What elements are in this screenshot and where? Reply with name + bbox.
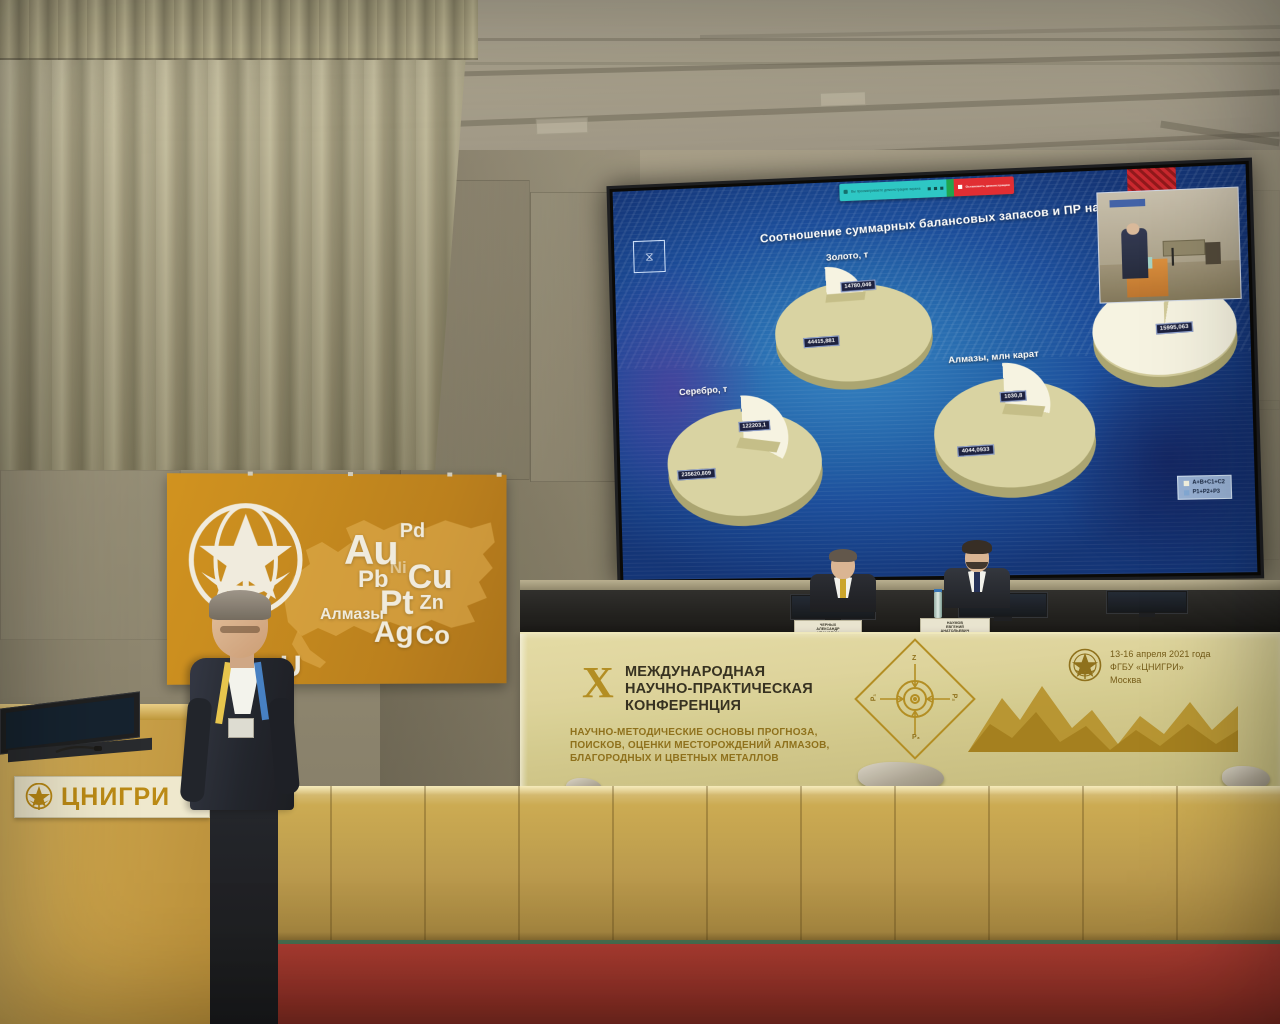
banner-clip <box>248 472 253 476</box>
conference-hall-photo: Вы просматриваете демонстрацию экрана Ос… <box>0 0 1280 1024</box>
bottle-cap <box>934 589 942 592</box>
banner-title-line: КОНФЕРЕНЦИЯ <box>625 698 813 715</box>
speaker-eye-shadow <box>220 626 260 633</box>
banner-subtitle: НАУЧНО-МЕТОДИЧЕСКИЕ ОСНОВЫ ПРОГНОЗА, ПОИ… <box>570 726 830 766</box>
pie-value-diamonds-ab: 1030,8 <box>1000 390 1027 402</box>
emblem-arrows <box>872 656 958 742</box>
label-diamonds: Алмазы <box>320 606 384 624</box>
speaker-hair <box>209 590 271 620</box>
pip-speaker-body <box>1121 228 1149 279</box>
person-beard <box>966 562 988 569</box>
pip-speaker-head <box>1126 223 1139 235</box>
pip-floor <box>1100 261 1240 303</box>
led-presentation-screen[interactable]: Вы просматриваете демонстрацию экрана Ос… <box>606 158 1264 587</box>
podium-sign-text: ЦНИГРИ <box>61 783 170 812</box>
legend-swatch-p <box>1184 490 1190 495</box>
element-co: Co <box>416 620 450 651</box>
legend-row-ab: A+B+C1+C2 <box>1184 479 1225 486</box>
banner-info-block: 13-16 апреля 2021 года ФГБУ «ЦНИГРИ» Мос… <box>1068 648 1268 700</box>
pip-water-bottle <box>1148 257 1152 268</box>
banner-rhombus-emblem: Z P₁ P₂ P₃ <box>872 656 958 742</box>
podium-microphone <box>54 746 102 754</box>
pause-icon[interactable] <box>928 187 931 190</box>
banner-title: МЕЖДУНАРОДНАЯ НАУЧНО-ПРАКТИЧЕСКАЯ КОНФЕР… <box>625 664 813 715</box>
pip-wall-strip <box>1109 198 1145 207</box>
banner-info-line: 13-16 апреля 2021 года <box>1110 648 1211 661</box>
person-tie <box>840 578 846 598</box>
monitor-stand <box>994 617 1012 621</box>
banner-info-line: ФГБУ «ЦНИГРИ» <box>1110 661 1211 674</box>
curtain-shading <box>0 0 470 470</box>
legend-label-p: P1+P2+P3 <box>1193 489 1221 496</box>
stop-share-button[interactable]: Остановить демонстрацию <box>954 177 1015 196</box>
share-notice-label: Вы просматриваете демонстрацию экрана <box>851 187 921 194</box>
slide-canvas: Вы просматриваете демонстрацию экрана Ос… <box>613 164 1258 580</box>
curtain-valance <box>0 0 478 60</box>
person-hair <box>962 540 992 554</box>
monitor-screen <box>1108 592 1186 612</box>
more-icon[interactable] <box>940 187 943 190</box>
speaker-person <box>176 586 306 1024</box>
banner-title-line: МЕЖДУНАРОДНАЯ <box>625 664 813 681</box>
banner-clip <box>447 473 452 477</box>
banner-info-text: 13-16 апреля 2021 года ФГБУ «ЦНИГРИ» Мос… <box>1110 648 1211 686</box>
toolbar-icons[interactable] <box>924 180 946 198</box>
annotate-icon[interactable] <box>934 187 937 190</box>
pie-chart-gold: 14780,046 44415,881 <box>771 270 937 416</box>
pie-chart-diamonds: 1030,8 4044,0933 <box>930 365 1101 519</box>
legend-swatch-ab <box>1184 480 1190 485</box>
speaker-legs <box>210 796 278 1024</box>
presidium-person-2 <box>940 540 1014 606</box>
cnigri-slide-logo: ⧖ <box>633 240 665 273</box>
banner-roman-numeral: X <box>582 664 614 701</box>
element-ni: Ni <box>390 558 407 578</box>
chart-legend: A+B+C1+C2 P1+P2+P3 <box>1177 475 1232 500</box>
stop-square-icon <box>958 185 962 189</box>
banner-info-line: Москва <box>1110 674 1211 687</box>
banner-subtitle-line: БЛАГОРОДНЫХ И ЦВЕТНЫХ МЕТАЛЛОВ <box>570 752 830 765</box>
pie-chart-silver: 122203,1 235620,809 <box>664 397 828 548</box>
presidium-person-1 <box>806 548 880 610</box>
cnigri-emblem-banner <box>1068 648 1102 682</box>
person-hair <box>829 549 857 562</box>
element-zn: Zn <box>420 592 444 615</box>
cnigri-emblem-podium <box>25 783 53 811</box>
presidium-table-top <box>520 580 1280 590</box>
monitor-stand <box>1139 613 1155 617</box>
banner-subtitle-line: ПОИСКОВ, ОЦЕНКИ МЕСТОРОЖДЕНИЙ АЛМАЗОВ, <box>570 739 830 752</box>
banner-edge-highlight <box>520 634 528 787</box>
presidium-monitor-3 <box>1106 590 1188 614</box>
water-bottle-presidium <box>934 592 942 618</box>
person-tie <box>974 572 980 592</box>
banner-title-line: НАУЧНО-ПРАКТИЧЕСКАЯ <box>625 681 813 698</box>
legend-label-ab: A+B+C1+C2 <box>1192 479 1225 486</box>
legend-row-p: P1+P2+P3 <box>1184 489 1225 496</box>
stop-share-label: Остановить демонстрацию <box>965 183 1010 189</box>
speaker-badge <box>228 718 254 738</box>
banner-subtitle-line: НАУЧНО-МЕТОДИЧЕСКИЕ ОСНОВЫ ПРОГНОЗА, <box>570 726 830 739</box>
banner-clip <box>497 473 502 477</box>
pip-table <box>1163 240 1205 257</box>
share-status-dot <box>844 190 848 194</box>
red-carpet <box>206 944 1280 1024</box>
pip-chair <box>1205 241 1221 264</box>
element-pd: Pd <box>400 520 425 543</box>
webcam-pip[interactable] <box>1097 187 1242 304</box>
banner-clip <box>348 472 353 476</box>
